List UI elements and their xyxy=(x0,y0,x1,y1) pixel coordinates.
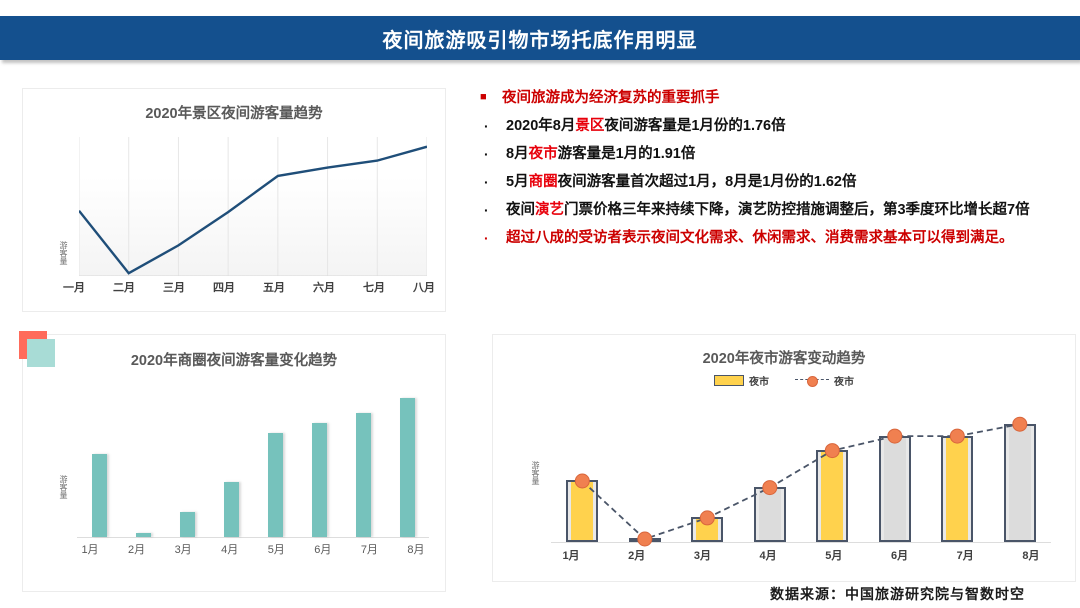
x-tick: 6月 xyxy=(300,541,346,557)
bullet-dot-icon: · xyxy=(480,144,506,164)
legend-item-line[interactable]: 夜市 xyxy=(795,373,854,388)
bullet-square-icon: ■ xyxy=(480,88,502,106)
x-tick: 三月 xyxy=(149,279,199,295)
x-tick: 4月 xyxy=(738,547,798,563)
dashed-line-marker-icon xyxy=(795,375,829,386)
x-tick: 二月 xyxy=(99,279,149,295)
list-item: ·8月夜市游客量是1月的1.91倍 xyxy=(480,144,1076,165)
x-tick: 八月 xyxy=(399,279,449,295)
text-segment: 游客量是1月的1.91倍 xyxy=(558,146,696,162)
x-tick: 六月 xyxy=(299,279,349,295)
list-item-text: 超过八成的受访者表示夜间文化需求、休闲需求、消费需求基本可以得到满足。 xyxy=(506,228,1014,249)
list-item: ·超过八成的受访者表示夜间文化需求、休闲需求、消费需求基本可以得到满足。 xyxy=(480,228,1076,249)
data-point-marker xyxy=(700,511,714,525)
teal-square-icon xyxy=(27,339,55,367)
list-item-text: 夜间旅游成为经济复苏的重要抓手 xyxy=(502,88,720,109)
x-tick: 3月 xyxy=(160,541,206,557)
list-item: ■夜间旅游成为经济复苏的重要抓手 xyxy=(480,88,1076,109)
x-tick: 2月 xyxy=(607,547,667,563)
night-market-line-svg xyxy=(551,411,1051,543)
x-tick: 五月 xyxy=(249,279,299,295)
text-segment: 夜间旅游成为经济复苏的重要抓手 xyxy=(502,90,720,106)
x-tick: 6月 xyxy=(870,547,930,563)
data-point-marker xyxy=(950,429,964,443)
x-tick: 2月 xyxy=(114,541,160,557)
data-point-marker xyxy=(575,474,589,488)
bullet-dot-icon: · xyxy=(480,172,506,192)
key-findings-list: ■夜间旅游成为经济复苏的重要抓手·2020年8月景区夜间游客量是1月份的1.76… xyxy=(480,88,1076,256)
scenic-chart-plot-area xyxy=(79,137,427,276)
data-point-marker xyxy=(888,429,902,443)
x-tick: 1月 xyxy=(67,541,113,557)
text-segment: 5月 xyxy=(506,174,529,190)
night-market-plot-area xyxy=(551,411,1051,543)
bullet-dot-icon: · xyxy=(480,200,506,220)
legend-label-bar: 夜市 xyxy=(749,373,769,388)
text-segment: 夜间游客量首次超过1月，8月是1月份的1.62倍 xyxy=(558,174,857,190)
bar xyxy=(268,433,283,537)
bar xyxy=(400,398,415,537)
text-segment: 8月 xyxy=(506,146,529,162)
night-market-legend: 夜市 夜市 xyxy=(493,373,1075,388)
x-tick: 七月 xyxy=(349,279,399,295)
x-tick: 8月 xyxy=(1001,547,1061,563)
bullet-dot-icon: · xyxy=(480,116,506,136)
decorative-squares xyxy=(19,331,65,377)
data-point-marker xyxy=(763,481,777,495)
bullet-dot-icon: · xyxy=(480,228,506,248)
business-district-chart-title: 2020年商圈夜间游客量变化趋势 xyxy=(23,349,445,370)
scenic-chart-title: 2020年景区夜间游客量趋势 xyxy=(23,102,445,123)
bar xyxy=(356,413,371,537)
business-district-y-axis-label: 游客量 xyxy=(59,475,67,499)
list-item: ·夜间演艺门票价格三年来持续下降，演艺防控措施调整后，第3季度环比增长超7倍 xyxy=(480,200,1076,221)
x-tick: 一月 xyxy=(49,279,99,295)
x-tick: 7月 xyxy=(346,541,392,557)
x-tick: 5月 xyxy=(804,547,864,563)
list-item: ·5月商圈夜间游客量首次超过1月，8月是1月份的1.62倍 xyxy=(480,172,1076,193)
night-market-y-axis-label: 游客量 xyxy=(531,461,539,485)
business-district-plot-area xyxy=(77,391,429,538)
x-tick: 4月 xyxy=(207,541,253,557)
legend-item-bar[interactable]: 夜市 xyxy=(714,373,769,388)
highlighted-term: 商圈 xyxy=(529,174,558,190)
list-item-text: 夜间演艺门票价格三年来持续下降，演艺防控措施调整后，第3季度环比增长超7倍 xyxy=(506,200,1030,221)
x-tick: 8月 xyxy=(393,541,439,557)
text-segment: 夜间 xyxy=(506,202,535,218)
x-tick: 1月 xyxy=(541,547,601,563)
data-source-note: 数据来源：中国旅游研究院与智数时空 xyxy=(770,584,1025,604)
business-district-x-axis: 1月 2月 3月 4月 5月 6月 7月 8月 xyxy=(67,541,439,557)
bar xyxy=(312,423,327,537)
text-segment: 超过八成的受访者表示夜间文化需求、休闲需求、消费需求基本可以得到满足。 xyxy=(506,230,1014,246)
text-segment: 2020年8月 xyxy=(506,118,575,134)
data-point-marker xyxy=(825,444,839,458)
bar xyxy=(224,482,239,537)
scenic-line-svg xyxy=(79,137,427,276)
bar-swatch-icon xyxy=(714,375,744,386)
list-item: ·2020年8月景区夜间游客量是1月份的1.76倍 xyxy=(480,116,1076,137)
list-item-text: 5月商圈夜间游客量首次超过1月，8月是1月份的1.62倍 xyxy=(506,172,857,193)
bar xyxy=(92,454,107,537)
data-point-marker xyxy=(638,532,652,546)
bar xyxy=(136,533,151,537)
scenic-chart-x-axis: 一月 二月 三月 四月 五月 六月 七月 八月 xyxy=(49,279,449,295)
night-market-markers xyxy=(575,417,1027,546)
night-market-chart-title: 2020年夜市游客变动趋势 xyxy=(493,347,1075,368)
x-tick: 3月 xyxy=(672,547,732,563)
data-point-marker xyxy=(1013,417,1027,431)
highlighted-term: 夜市 xyxy=(529,146,558,162)
scenic-trend-line xyxy=(79,147,427,274)
x-tick: 四月 xyxy=(199,279,249,295)
scenic-gridlines xyxy=(79,137,427,276)
legend-label-line: 夜市 xyxy=(834,373,854,388)
night-market-chart-panel: 2020年夜市游客变动趋势 夜市 夜市 游客量 1月 2月 3月 4月 5月 6… xyxy=(492,334,1076,582)
scenic-chart-y-axis-label: 游客量 xyxy=(59,241,67,265)
x-tick: 5月 xyxy=(253,541,299,557)
business-district-chart-panel: 2020年商圈夜间游客量变化趋势 游客量 1月 2月 3月 4月 5月 6月 7… xyxy=(22,334,446,592)
list-item-text: 8月夜市游客量是1月的1.91倍 xyxy=(506,144,695,165)
page-title: 夜间旅游吸引物市场托底作用明显 xyxy=(383,24,698,53)
bar xyxy=(180,512,195,537)
text-segment: 夜间游客量是1月份的1.76倍 xyxy=(604,118,785,134)
x-tick: 7月 xyxy=(935,547,995,563)
list-item-text: 2020年8月景区夜间游客量是1月份的1.76倍 xyxy=(506,116,786,137)
highlighted-term: 景区 xyxy=(575,118,604,134)
text-segment: 门票价格三年来持续下降，演艺防控措施调整后，第3季度环比增长超7倍 xyxy=(564,202,1030,218)
scenic-line-chart-panel: 2020年景区夜间游客量趋势 游客量 一月 二月 三月 四月 五月 六月 七月 … xyxy=(22,88,446,312)
slide-title-banner: 夜间旅游吸引物市场托底作用明显 xyxy=(0,16,1080,60)
night-market-x-axis: 1月 2月 3月 4月 5月 6月 7月 8月 xyxy=(541,547,1061,563)
highlighted-term: 演艺 xyxy=(535,202,564,218)
